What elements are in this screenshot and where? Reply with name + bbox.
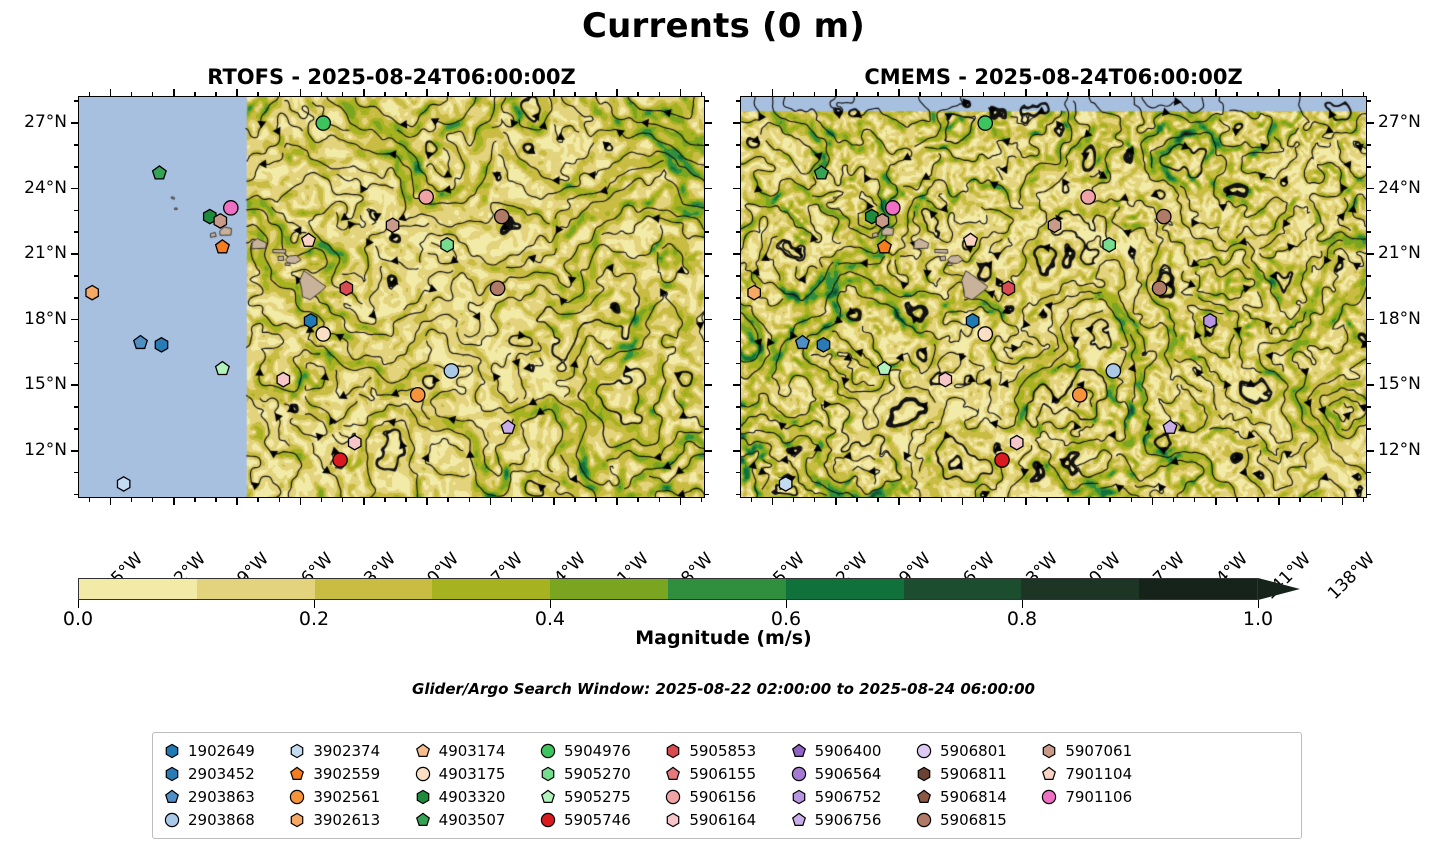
legend-label: 5906815 (940, 811, 1007, 829)
axis-tick (733, 188, 740, 190)
axis-tick (962, 498, 964, 505)
axis-tick (1367, 122, 1374, 124)
axis-tick (74, 428, 78, 430)
axis-tick (705, 384, 712, 386)
legend-empty (1166, 763, 1291, 785)
legend-label: 3902561 (313, 788, 380, 806)
legend-item[interactable]: 3902561 (288, 786, 413, 808)
legend-symbol-pentagon (288, 765, 306, 783)
legend-item[interactable]: 2903452 (163, 763, 288, 785)
legend-label: 1902649 (188, 742, 255, 760)
axis-tick (236, 89, 238, 96)
axis-tick (637, 498, 639, 502)
axis-tick (705, 275, 709, 277)
axis-tick (835, 498, 837, 505)
colorbar-band (550, 579, 668, 599)
axis-tick (1321, 92, 1323, 96)
axis-tick (215, 498, 217, 502)
legend-label: 2903452 (188, 765, 255, 783)
axis-tick (426, 498, 428, 505)
axis-tick (1367, 231, 1371, 233)
axis-tick (705, 188, 712, 190)
legend-symbol-hexagon (915, 765, 933, 783)
axis-tick (1173, 92, 1175, 96)
axis-tick (1109, 92, 1111, 96)
axis-tick (89, 92, 91, 96)
axis-tick (1367, 341, 1371, 343)
legend-item[interactable]: 5906155 (664, 763, 789, 785)
legend-label: 5904976 (564, 742, 631, 760)
y-axis-label: 21°N (0, 243, 67, 263)
axis-tick (131, 498, 133, 502)
colorbar-band (668, 579, 786, 599)
legend-symbol-hexagon (664, 742, 682, 760)
colorbar-band (197, 579, 315, 599)
axis-tick (300, 89, 302, 96)
legend-label: 5906155 (689, 765, 756, 783)
axis-tick (110, 498, 112, 505)
axis-tick (490, 89, 492, 96)
legend-item[interactable]: 3902613 (288, 809, 413, 831)
legend-item[interactable]: 4903320 (414, 786, 539, 808)
axis-tick (736, 406, 740, 408)
axis-tick (736, 100, 740, 102)
axis-tick (110, 89, 112, 96)
legend-item[interactable]: 4903507 (414, 809, 539, 831)
axis-tick (1367, 210, 1371, 212)
axis-tick (1367, 253, 1374, 255)
axis-tick (736, 341, 740, 343)
axis-tick (856, 498, 858, 502)
axis-tick (1367, 319, 1374, 321)
axis-tick (595, 92, 597, 96)
legend-label: 7901106 (1065, 788, 1132, 806)
axis-tick (236, 498, 238, 505)
axis-tick (1367, 428, 1371, 430)
axis-tick (89, 498, 91, 502)
colorbar-band (1139, 579, 1257, 599)
legend-symbol-hexagon (414, 788, 432, 806)
axis-tick (701, 498, 703, 502)
legend-symbol-circle (664, 788, 682, 806)
colorbar-band (315, 579, 433, 599)
colorbar: 0.00.20.40.60.81.0 (78, 578, 1300, 600)
axis-tick (1067, 498, 1069, 502)
panel-title-cmems: CMEMS - 2025-08-24T06:00:00Z (740, 65, 1367, 89)
axis-tick (733, 384, 740, 386)
axis-tick (705, 406, 709, 408)
float-legend: 1902649390237449031745904976590585359064… (152, 732, 1302, 839)
legend-label: 3902374 (313, 742, 380, 760)
legend-symbol-hexagon (539, 765, 557, 783)
legend-label: 5906156 (689, 788, 756, 806)
axis-tick (814, 92, 816, 96)
axis-tick (1109, 498, 1111, 502)
legend-label: 4903320 (439, 788, 506, 806)
legend-item[interactable]: 4903175 (414, 763, 539, 785)
legend-item[interactable]: 5906156 (664, 786, 789, 808)
legend-symbol-pentagon (790, 811, 808, 829)
axis-tick (511, 498, 513, 502)
axis-tick (215, 92, 217, 96)
y-axis-label: 15°N (0, 374, 67, 394)
legend-label: 2903868 (188, 811, 255, 829)
axis-tick (898, 498, 900, 505)
axis-tick (1088, 89, 1090, 96)
axis-tick (1131, 498, 1133, 502)
colorbar-band (904, 579, 1022, 599)
legend-item[interactable]: 5904976 (539, 740, 664, 762)
y-axis-label: 21°N (1378, 243, 1421, 263)
axis-tick (74, 275, 78, 277)
legend-item[interactable]: 4903174 (414, 740, 539, 762)
legend-symbol-circle (539, 811, 557, 829)
legend-symbol-circle (1040, 788, 1058, 806)
axis-tick (321, 92, 323, 96)
legend-label: 3902559 (313, 765, 380, 783)
axis-tick (1367, 275, 1371, 277)
axis-tick (701, 92, 703, 96)
axis-tick (152, 92, 154, 96)
y-axis-label: 15°N (1378, 374, 1421, 394)
axis-tick (680, 89, 682, 96)
axis-tick (736, 363, 740, 365)
axis-tick (736, 210, 740, 212)
figure-suptitle: Currents (0 m) (0, 6, 1447, 46)
axis-tick (751, 92, 753, 96)
axis-tick (941, 498, 943, 502)
axis-tick (705, 122, 712, 124)
legend-item[interactable]: 5905275 (539, 786, 664, 808)
axis-tick (736, 494, 740, 496)
axis-tick (898, 89, 900, 96)
legend-label: 2903863 (188, 788, 255, 806)
legend-item[interactable]: 5906400 (790, 740, 915, 762)
axis-tick (705, 166, 709, 168)
legend-symbol-pentagon (539, 788, 557, 806)
axis-tick (705, 341, 709, 343)
axis-tick (983, 92, 985, 96)
axis-tick (736, 144, 740, 146)
legend-symbol-pentagon (790, 742, 808, 760)
legend-label: 7901104 (1065, 765, 1132, 783)
axis-tick (736, 428, 740, 430)
axis-tick (194, 498, 196, 502)
legend-symbol-pentagon (915, 788, 933, 806)
axis-tick (1321, 498, 1323, 502)
legend-empty (1166, 786, 1291, 808)
axis-tick (705, 428, 709, 430)
legend-item[interactable]: 5906815 (915, 809, 1040, 831)
y-axis-label: 27°N (1378, 112, 1421, 132)
axis-tick (772, 498, 774, 505)
map-panel-rtofs[interactable] (78, 96, 705, 498)
legend-item[interactable]: 5905746 (539, 809, 664, 831)
colorbar-tick (786, 600, 787, 608)
legend-symbol-circle (288, 788, 306, 806)
axis-tick (733, 122, 740, 124)
axis-tick (405, 498, 407, 502)
axis-tick (74, 100, 78, 102)
axis-tick (616, 498, 618, 505)
x-axis-label: 138°W (1324, 549, 1379, 604)
axis-tick (574, 498, 576, 502)
legend-item[interactable]: 5906801 (915, 740, 1040, 762)
legend-label: 5906400 (815, 742, 882, 760)
axis-tick (1025, 89, 1027, 96)
axis-tick (705, 450, 712, 452)
axis-tick (736, 166, 740, 168)
legend-item[interactable]: 2903863 (163, 786, 288, 808)
axis-tick (705, 363, 709, 365)
axis-tick (152, 498, 154, 502)
axis-tick (1257, 92, 1259, 96)
legend-symbol-circle (414, 765, 432, 783)
axis-tick (1367, 494, 1371, 496)
legend-symbol-hexagon (288, 742, 306, 760)
y-axis-label: 24°N (1378, 178, 1421, 198)
axis-tick (532, 92, 534, 96)
axis-tick (384, 92, 386, 96)
axis-tick (751, 498, 753, 502)
colorbar-tick (78, 600, 79, 608)
legend-label: 5906814 (940, 788, 1007, 806)
axis-tick (131, 92, 133, 96)
legend-symbol-hexagon (163, 742, 181, 760)
axis-tick (342, 92, 344, 96)
axis-tick (363, 498, 365, 505)
legend-item[interactable]: 5906814 (915, 786, 1040, 808)
axis-tick (733, 450, 740, 452)
legend-symbol-pentagon (414, 742, 432, 760)
axis-tick (490, 498, 492, 505)
legend-item[interactable]: 3902559 (288, 763, 413, 785)
axis-tick (363, 89, 365, 96)
axis-tick (1367, 384, 1374, 386)
legend-empty (1166, 809, 1291, 831)
legend-item[interactable]: 7901106 (1040, 786, 1165, 808)
axis-tick (705, 494, 709, 496)
axis-tick (74, 144, 78, 146)
axis-tick (279, 92, 281, 96)
axis-tick (384, 498, 386, 502)
axis-tick (71, 450, 78, 452)
axis-tick (257, 92, 259, 96)
axis-tick (1067, 92, 1069, 96)
colorbar-tick (314, 600, 315, 608)
legend-item[interactable]: 5905270 (539, 763, 664, 785)
axis-tick (257, 498, 259, 502)
legend-item[interactable]: 5906164 (664, 809, 789, 831)
axis-tick (1194, 92, 1196, 96)
axis-tick (405, 92, 407, 96)
legend-empty (1040, 809, 1165, 831)
axis-tick (733, 253, 740, 255)
legend-label: 4903507 (439, 811, 506, 829)
axis-tick (1046, 498, 1048, 502)
map-panel-cmems[interactable] (740, 96, 1367, 498)
legend-item[interactable]: 5906756 (790, 809, 915, 831)
axis-tick (1152, 89, 1154, 96)
axis-tick (733, 319, 740, 321)
legend-item[interactable]: 7901104 (1040, 763, 1165, 785)
axis-tick (194, 92, 196, 96)
axis-tick (1131, 92, 1133, 96)
axis-tick (793, 92, 795, 96)
axis-tick (74, 210, 78, 212)
axis-tick (74, 406, 78, 408)
legend-label: 5906811 (940, 765, 1007, 783)
colorbar-band (1021, 579, 1139, 599)
axis-tick (71, 384, 78, 386)
legend-label: 5905275 (564, 788, 631, 806)
axis-tick (447, 498, 449, 502)
legend-label: 5906756 (815, 811, 882, 829)
axis-tick (877, 92, 879, 96)
legend-symbol-pentagon (1040, 765, 1058, 783)
legend-label: 5905853 (689, 742, 756, 760)
axis-tick (1215, 498, 1217, 505)
colorbar-tick (1258, 600, 1259, 608)
axis-tick (1363, 498, 1365, 502)
colorbar-band (432, 579, 550, 599)
colorbar-extend-arrow (1258, 578, 1300, 600)
legend-label: 3902613 (313, 811, 380, 829)
axis-tick (919, 498, 921, 502)
legend-symbol-hexagon (664, 811, 682, 829)
axis-tick (1215, 89, 1217, 96)
legend-label: 4903174 (439, 742, 506, 760)
legend-symbol-pentagon (414, 811, 432, 829)
legend-symbol-hexagon (1040, 742, 1058, 760)
legend-item[interactable]: 5907061 (1040, 740, 1165, 762)
y-axis-label: 18°N (0, 309, 67, 329)
axis-tick (793, 498, 795, 502)
axis-tick (321, 498, 323, 502)
legend-symbol-circle (539, 742, 557, 760)
legend-grid: 1902649390237449031745904976590585359064… (163, 740, 1291, 831)
axis-tick (1367, 144, 1371, 146)
axis-tick (814, 498, 816, 502)
axis-tick (736, 297, 740, 299)
colorbar-band (79, 579, 197, 599)
axis-tick (705, 100, 709, 102)
legend-label: 4903175 (439, 765, 506, 783)
axis-tick (1236, 92, 1238, 96)
legend-item[interactable]: 5906752 (790, 786, 915, 808)
axis-tick (736, 472, 740, 474)
axis-tick (772, 89, 774, 96)
axis-tick (736, 275, 740, 277)
colorbar-tick (550, 600, 551, 608)
axis-tick (705, 210, 709, 212)
axis-tick (71, 188, 78, 190)
axis-tick (1236, 498, 1238, 502)
axis-tick (659, 498, 661, 502)
y-axis-label: 24°N (0, 178, 67, 198)
axis-tick (941, 92, 943, 96)
legend-item[interactable]: 1902649 (163, 740, 288, 762)
legend-item[interactable]: 3902374 (288, 740, 413, 762)
axis-tick (71, 319, 78, 321)
axis-tick (705, 231, 709, 233)
axis-tick (1342, 498, 1344, 505)
legend-symbol-hexagon (163, 765, 181, 783)
axis-tick (1173, 498, 1175, 502)
axis-tick (877, 498, 879, 502)
axis-tick (74, 494, 78, 496)
axis-tick (469, 92, 471, 96)
panel-title-rtofs: RTOFS - 2025-08-24T06:00:00Z (78, 65, 705, 89)
axis-tick (1367, 166, 1371, 168)
axis-tick (1363, 92, 1365, 96)
legend-label: 5906564 (815, 765, 882, 783)
axis-tick (74, 472, 78, 474)
axis-tick (595, 498, 597, 502)
axis-tick (426, 89, 428, 96)
axis-tick (1004, 92, 1006, 96)
legend-label: 5905746 (564, 811, 631, 829)
colorbar-gradient (78, 578, 1258, 600)
figure-canvas: Currents (0 m) RTOFS - 2025-08-24T06:00:… (0, 0, 1447, 863)
axis-tick (1278, 498, 1280, 505)
axis-tick (1152, 498, 1154, 505)
axis-tick (919, 92, 921, 96)
y-axis-label: 27°N (0, 112, 67, 132)
legend-item[interactable]: 5906564 (790, 763, 915, 785)
axis-tick (835, 89, 837, 96)
axis-tick (1004, 498, 1006, 502)
axis-tick (1194, 498, 1196, 502)
axis-tick (1088, 498, 1090, 505)
axis-tick (616, 89, 618, 96)
legend-item[interactable]: 2903868 (163, 809, 288, 831)
axis-tick (74, 341, 78, 343)
legend-label: 5905270 (564, 765, 631, 783)
axis-tick (1257, 498, 1259, 502)
axis-tick (705, 297, 709, 299)
axis-tick (173, 498, 175, 505)
axis-tick (469, 498, 471, 502)
legend-symbol-circle (790, 765, 808, 783)
axis-tick (705, 319, 712, 321)
colorbar-band (786, 579, 904, 599)
y-axis-label: 12°N (1378, 440, 1421, 460)
legend-symbol-hexagon (790, 788, 808, 806)
legend-symbol-circle (915, 742, 933, 760)
legend-label: 5907061 (1065, 742, 1132, 760)
axis-tick (1025, 498, 1027, 505)
axis-tick (553, 498, 555, 505)
axis-tick (532, 498, 534, 502)
axis-tick (74, 363, 78, 365)
axis-tick (637, 92, 639, 96)
axis-tick (680, 498, 682, 505)
axis-tick (447, 92, 449, 96)
legend-item[interactable]: 5906811 (915, 763, 1040, 785)
axis-tick (1367, 472, 1371, 474)
colorbar-tick (1022, 600, 1023, 608)
axis-tick (1367, 297, 1371, 299)
axis-tick (574, 92, 576, 96)
axis-tick (553, 89, 555, 96)
legend-item[interactable]: 5905853 (664, 740, 789, 762)
legend-symbol-pentagon (664, 765, 682, 783)
axis-tick (74, 297, 78, 299)
axis-tick (962, 89, 964, 96)
axis-tick (705, 472, 709, 474)
axis-tick (705, 253, 712, 255)
